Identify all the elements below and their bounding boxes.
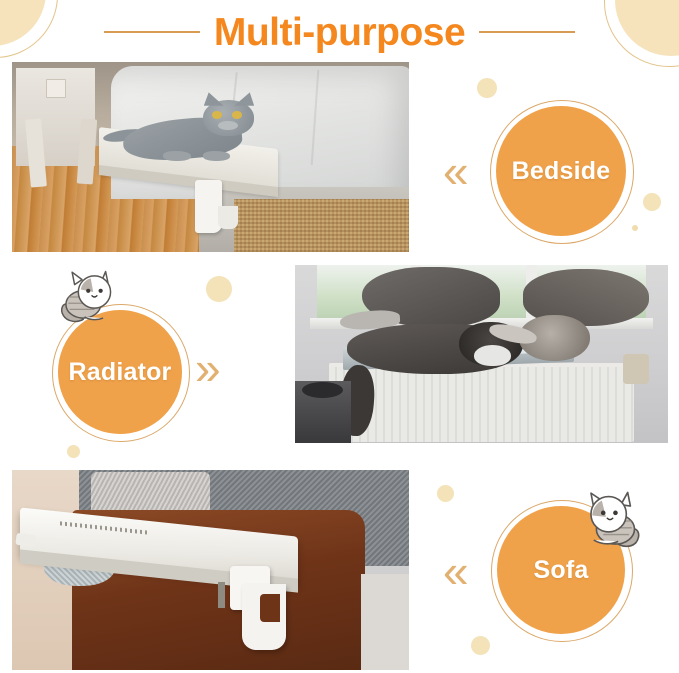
decorative-dot bbox=[632, 225, 638, 231]
title-rule-right bbox=[479, 31, 575, 33]
radiator-valve bbox=[623, 354, 649, 384]
badge-bedside[interactable]: Bedside bbox=[496, 106, 626, 236]
infographic-page: Multi-purpose bbox=[0, 0, 679, 673]
badge-label-sofa: Sofa bbox=[534, 556, 589, 585]
badge-label-bedside: Bedside bbox=[512, 157, 611, 186]
cat-mascot-icon-sofa bbox=[575, 487, 645, 555]
cat-eye bbox=[232, 111, 242, 119]
perch-side-rail bbox=[15, 533, 36, 548]
cat-paw bbox=[163, 151, 191, 161]
decorative-dot bbox=[67, 445, 80, 458]
photo-radiator bbox=[295, 265, 668, 443]
photo-sofa-scene bbox=[12, 470, 409, 670]
decorative-dot bbox=[643, 193, 661, 211]
rattan-bed-panel bbox=[234, 199, 409, 252]
mounting-hook-notch bbox=[260, 594, 280, 622]
wall-outlet bbox=[46, 79, 66, 98]
cat-paw bbox=[203, 151, 231, 161]
badge-radiator[interactable]: Radiator bbox=[58, 310, 182, 434]
decorative-dot bbox=[437, 485, 454, 502]
radiator bbox=[329, 363, 635, 442]
floor bbox=[361, 574, 409, 670]
cat-chest-fur bbox=[474, 345, 511, 366]
photo-sofa bbox=[12, 470, 409, 670]
chevron-left-icon-sofa: « bbox=[443, 548, 463, 594]
cat-mascot-icon-radiator bbox=[56, 266, 118, 328]
page-title: Multi-purpose bbox=[214, 13, 465, 52]
decorative-dot bbox=[471, 636, 490, 655]
photo-radiator-scene bbox=[295, 265, 668, 443]
decorative-dot bbox=[477, 78, 497, 98]
decorative-dot bbox=[206, 276, 232, 302]
photo-bedside bbox=[12, 62, 409, 252]
cushion-zipper bbox=[218, 582, 224, 608]
photo-bedside-scene bbox=[12, 62, 409, 252]
title-rule-left bbox=[104, 31, 200, 33]
chevron-right-icon-radiator: » bbox=[195, 345, 215, 391]
chevron-left-icon-bedside: « bbox=[443, 148, 463, 194]
title-row: Multi-purpose bbox=[0, 6, 679, 58]
mounting-hook bbox=[218, 206, 238, 229]
cat-eye bbox=[212, 111, 222, 119]
badge-label-radiator: Radiator bbox=[68, 358, 171, 387]
